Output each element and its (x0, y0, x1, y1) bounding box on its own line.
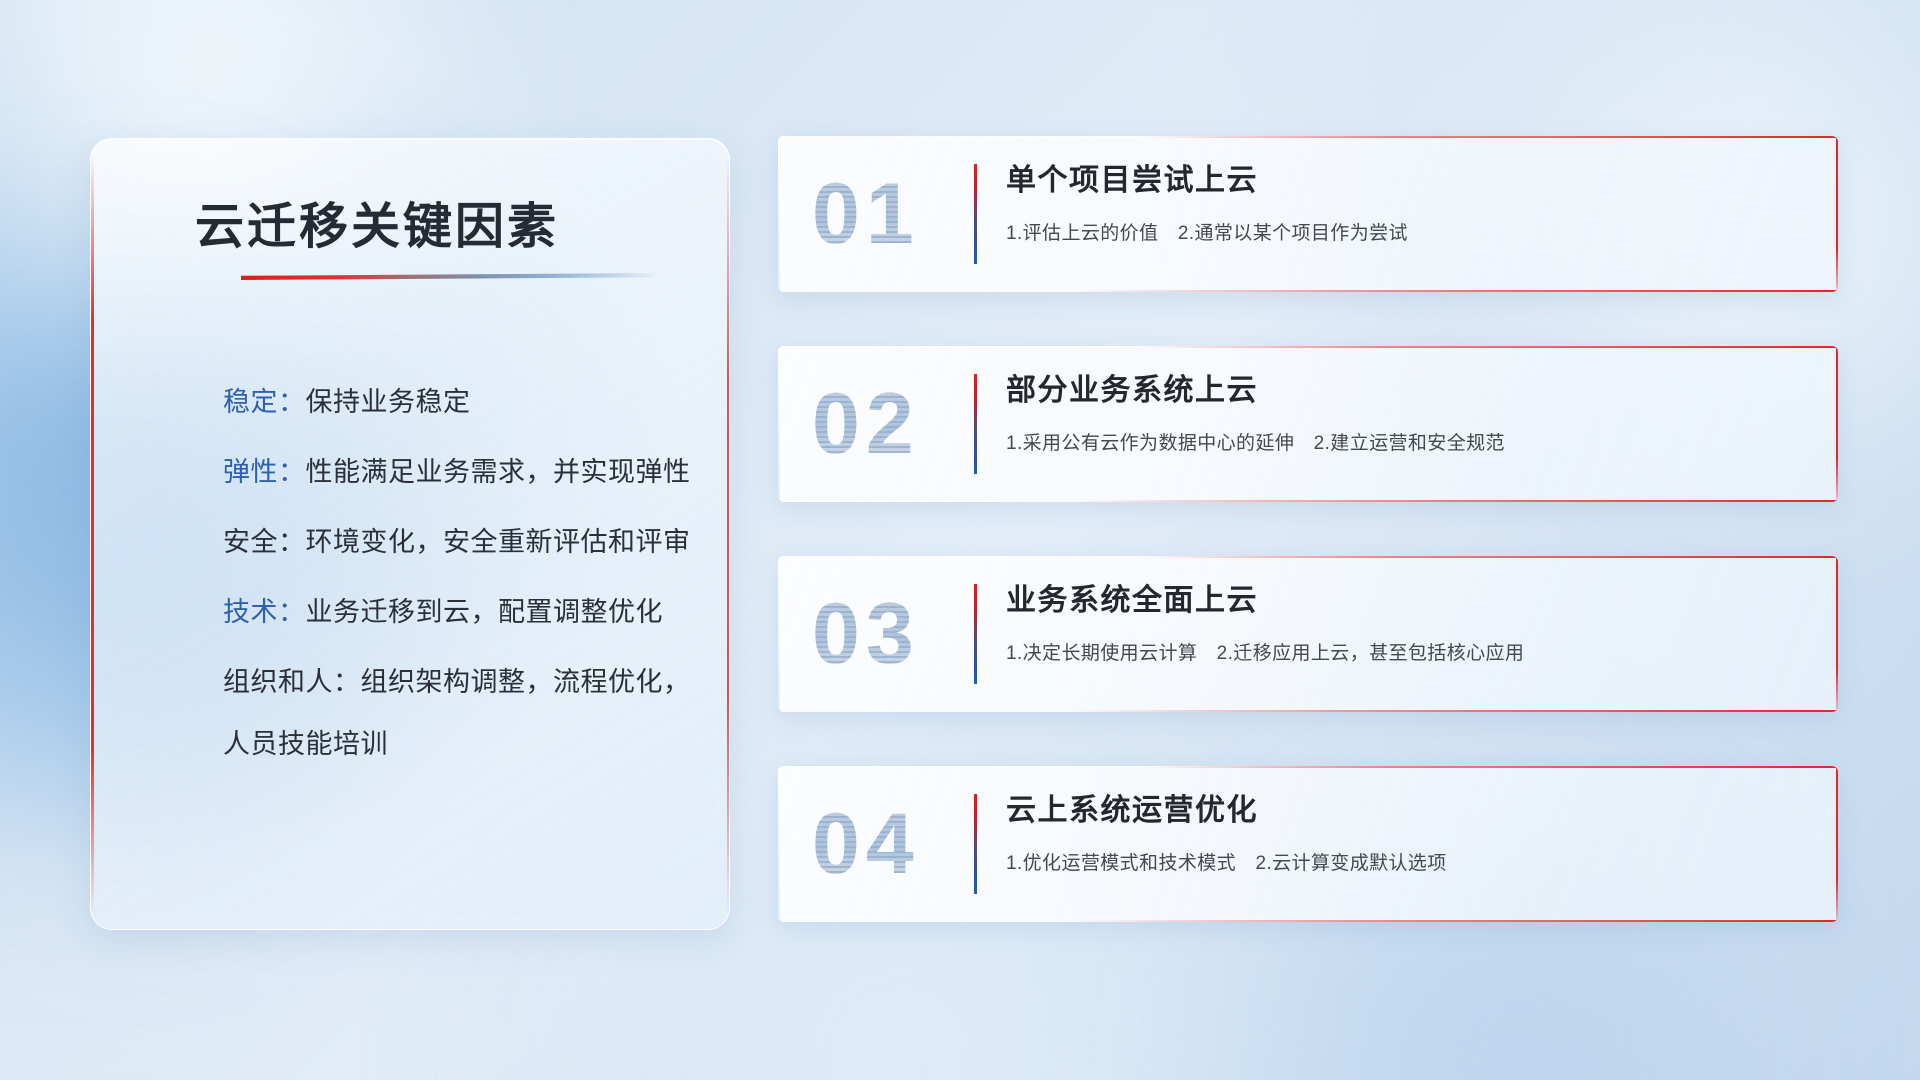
card-accent-top (1138, 346, 1838, 348)
key-factors-panel: 云迁移关键因素 稳定：保持业务稳定 弹性：性能满足业务需求，并实现弹性 安全：环… (90, 138, 730, 930)
card-accent-bottom (1075, 290, 1838, 292)
stage-number: 02 (812, 381, 920, 467)
stage-card-03[interactable]: 03 03 业务系统全面上云 1.决定长期使用云计算 2.迁移应用上云，甚至包括… (778, 556, 1838, 712)
card-edge-left (778, 346, 780, 502)
card-accent-bottom (1075, 500, 1838, 502)
factor-text: 人员技能培训 (223, 729, 388, 759)
stage-card-02[interactable]: 02 02 部分业务系统上云 1.采用公有云作为数据中心的延伸 2.建立运营和安… (778, 346, 1838, 502)
card-title: 云上系统运营优化 (1006, 792, 1812, 830)
list-item: 技术：业务迁移到云，配置调整优化 (223, 599, 689, 626)
card-body: 单个项目尝试上云 1.评估上云的价值 2.通常以某个项目作为尝试 (1006, 162, 1812, 245)
stage-number: 04 (812, 801, 920, 887)
card-edge-left (778, 136, 780, 292)
factor-label: 组织和人： (223, 667, 361, 697)
card-title: 单个项目尝试上云 (1006, 162, 1812, 200)
list-item: 稳定：保持业务稳定 (223, 389, 689, 416)
factor-text: 环境变化，安全重新评估和评审 (306, 527, 691, 557)
factor-label: 弹性： (223, 457, 306, 487)
stage-number: 03 (812, 591, 920, 677)
card-subtitle: 1.评估上云的价值 2.通常以某个项目作为尝试 (1006, 218, 1812, 245)
card-edge-left (778, 766, 780, 922)
card-accent-right (1836, 136, 1838, 292)
stage-number: 01 (812, 171, 920, 257)
factor-label: 稳定： (223, 387, 306, 417)
card-title: 部分业务系统上云 (1006, 372, 1812, 410)
stage-card-04[interactable]: 04 04 云上系统运营优化 1.优化运营模式和技术模式 2.云计算变成默认选项 (778, 766, 1838, 922)
list-item: 安全：环境变化，安全重新评估和评审 (223, 529, 689, 556)
list-item: 弹性：性能满足业务需求，并实现弹性 (223, 459, 689, 486)
card-divider-accent (974, 794, 977, 894)
card-accent-bottom (1075, 710, 1838, 712)
stage-card-list: 01 01 单个项目尝试上云 1.评估上云的价值 2.通常以某个项目作为尝试 0… (778, 136, 1838, 922)
card-accent-right (1836, 346, 1838, 502)
factor-label: 安全： (223, 527, 306, 557)
card-title: 业务系统全面上云 (1006, 582, 1812, 620)
card-divider-accent (974, 374, 977, 474)
card-body: 部分业务系统上云 1.采用公有云作为数据中心的延伸 2.建立运营和安全规范 (1006, 372, 1812, 455)
card-body: 云上系统运营优化 1.优化运营模式和技术模式 2.云计算变成默认选项 (1006, 792, 1812, 875)
factor-list: 稳定：保持业务稳定 弹性：性能满足业务需求，并实现弹性 安全：环境变化，安全重新… (223, 389, 689, 758)
card-accent-bottom (1075, 920, 1838, 922)
page-title: 云迁移关键因素 (195, 187, 559, 258)
list-item-continuation: 人员技能培训 (223, 731, 689, 758)
card-subtitle: 1.优化运营模式和技术模式 2.云计算变成默认选项 (1006, 848, 1812, 875)
card-edge-left (778, 556, 780, 712)
slide-canvas: 云迁移关键因素 稳定：保持业务稳定 弹性：性能满足业务需求，并实现弹性 安全：环… (0, 0, 1920, 1080)
title-underline-accent (241, 273, 653, 280)
factor-text: 保持业务稳定 (306, 387, 471, 417)
card-subtitle: 1.决定长期使用云计算 2.迁移应用上云，甚至包括核心应用 (1006, 638, 1812, 665)
list-item: 组织和人：组织架构调整，流程优化， (223, 669, 689, 696)
card-accent-right (1836, 766, 1838, 922)
card-accent-top (1138, 136, 1838, 138)
card-subtitle: 1.采用公有云作为数据中心的延伸 2.建立运营和安全规范 (1006, 428, 1812, 455)
card-body: 业务系统全面上云 1.决定长期使用云计算 2.迁移应用上云，甚至包括核心应用 (1006, 582, 1812, 665)
factor-label: 技术： (223, 597, 306, 627)
card-divider-accent (974, 584, 977, 684)
stage-card-01[interactable]: 01 01 单个项目尝试上云 1.评估上云的价值 2.通常以某个项目作为尝试 (778, 136, 1838, 292)
card-divider-accent (974, 164, 977, 264)
card-accent-top (1138, 556, 1838, 558)
card-accent-top (1138, 766, 1838, 768)
factor-text: 组织架构调整，流程优化， (361, 667, 691, 697)
card-accent-right (1836, 556, 1838, 712)
factor-text: 性能满足业务需求，并实现弹性 (306, 457, 691, 487)
factor-text: 业务迁移到云，配置调整优化 (306, 597, 664, 627)
